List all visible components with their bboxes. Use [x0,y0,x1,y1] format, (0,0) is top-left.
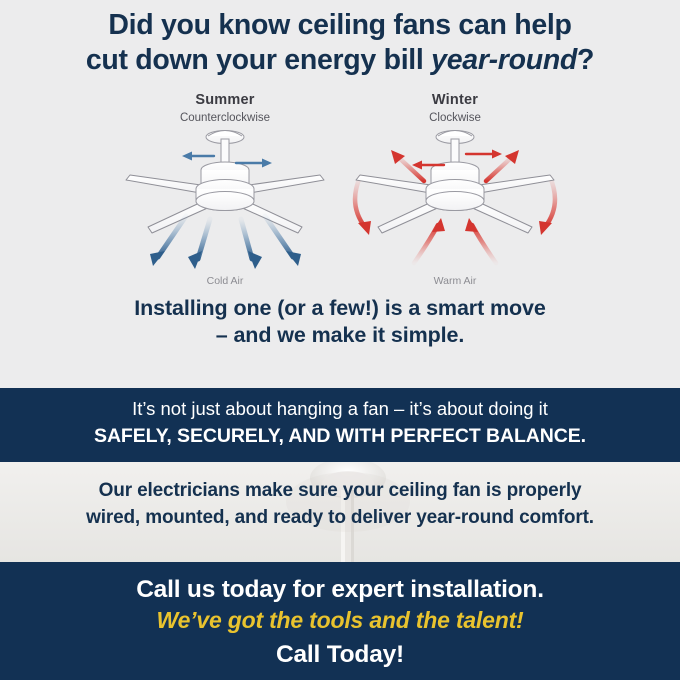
electricians-message-line-1: Our electricians make sure your ceiling … [0,478,680,505]
electricians-message-line-2: wired, mounted, and ready to deliver yea… [0,505,680,532]
ceiling-fan-icon [352,123,558,273]
headline-line-1: Did you know ceiling fans can help [22,8,658,43]
fan-direction-diagrams: Summer Counterclockwise [0,89,680,289]
diagram-summer-season: Summer [110,89,340,108]
headline-line-2: cut down your energy bill year-round? [22,43,658,78]
headline-line-2-suffix: ? [577,44,594,76]
electricians-message-band: Our electricians make sure your ceiling … [0,462,680,562]
cta-band: Call us today for expert installation. W… [0,562,680,680]
safety-message-band: It’s not just about hanging a fan – it’s… [0,388,680,462]
headline-line-2-prefix: cut down your energy bill [86,44,431,76]
subheading: Installing one (or a few!) is a smart mo… [0,295,680,350]
headline-emphasis: year-round [431,44,577,76]
cta-line-2: We’ve got the tools and the talent! [0,606,680,636]
ceiling-fan-icon [122,123,328,273]
diagram-winter-season: Winter [340,89,570,108]
electricians-message-copy: Our electricians make sure your ceiling … [0,462,680,531]
subheading-line-2: – and we make it simple. [0,322,680,350]
subheading-line-1: Installing one (or a few!) is a smart mo… [0,295,680,323]
diagram-winter-air-label: Warm Air [340,276,570,287]
diagram-summer: Summer Counterclockwise [110,89,340,289]
page-title: Did you know ceiling fans can help cut d… [0,0,680,79]
promo-poster: Did you know ceiling fans can help cut d… [0,0,680,680]
diagram-summer-air-label: Cold Air [110,276,340,287]
safety-message-line-1: It’s not just about hanging a fan – it’s… [0,396,680,423]
safety-message-line-2: SAFELY, SECURELY, AND WITH PERFECT BALAN… [0,423,680,449]
airflow-arrows-bottom [414,218,496,263]
call-today-button[interactable]: Call Today! [0,638,680,671]
diagram-winter: Winter Clockwise [340,89,570,289]
cta-line-1: Call us today for expert installation. [0,574,680,606]
